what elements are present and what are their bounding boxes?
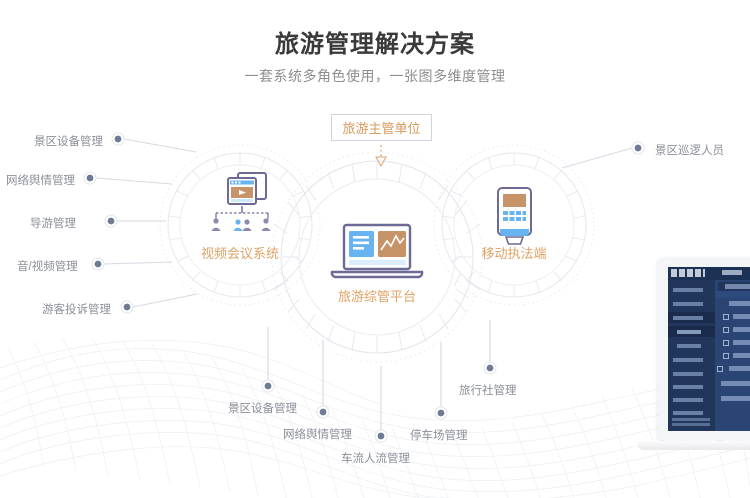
tourism-dashboard-preview xyxy=(650,258,750,468)
dashboard-checkbox[interactable] xyxy=(717,366,723,372)
dashboard-tree-leaf xyxy=(733,314,750,319)
node-caption-video-conference: 视频会议系统 xyxy=(180,243,300,262)
spoke-label-network-sentiment-bottom: 网络舆情管理 xyxy=(283,426,352,442)
dashboard-tree-leaf xyxy=(733,353,750,358)
dashboard-text-row xyxy=(725,284,750,289)
dashboard-checkbox[interactable] xyxy=(723,327,729,333)
spoke-label-scenic-equipment-bottom: 景区设备管理 xyxy=(228,400,297,416)
spoke-label-tourist-complaint-management: 游客投诉管理 xyxy=(42,301,111,317)
video-window-icon xyxy=(212,173,271,231)
node-caption-mobile-enforcement: 移动执法端 xyxy=(454,243,574,262)
dashboard-checkbox[interactable] xyxy=(723,314,729,320)
sidebar-item[interactable] xyxy=(673,288,703,292)
dashboard-tree-leaf xyxy=(733,340,750,345)
spoke-label-audio-video-management: 音/视频管理 xyxy=(17,258,78,274)
sidebar-item[interactable] xyxy=(673,372,703,376)
dashboard-tree-node xyxy=(721,396,750,401)
spoke-label-traffic-flow-management: 车流人流管理 xyxy=(341,450,410,466)
dashboard-filter-bar xyxy=(715,291,750,298)
sidebar-item[interactable] xyxy=(673,358,703,362)
dashboard-nav-item[interactable] xyxy=(722,270,742,275)
sidebar-item[interactable] xyxy=(677,344,701,348)
laptop-base xyxy=(638,441,750,450)
spoke-label-scenic-patrol-staff: 景区巡逻人员 xyxy=(655,142,724,158)
dashboard-screen xyxy=(668,267,750,431)
spoke-label-parking-management: 停车场管理 xyxy=(410,427,468,443)
dashboard-brand xyxy=(671,269,705,277)
dashboard-sidebar xyxy=(668,280,715,431)
dashboard-sidebar-footer xyxy=(672,418,710,427)
diagram-layer xyxy=(0,0,750,498)
sidebar-item-active[interactable] xyxy=(677,330,701,334)
authority-badge[interactable]: 旅游主管单位 xyxy=(331,114,432,141)
dashboard-tree-node xyxy=(721,381,750,386)
laptop-lid xyxy=(658,258,750,440)
spoke-label-network-sentiment-left: 网络舆情管理 xyxy=(6,172,75,188)
sidebar-item[interactable] xyxy=(673,302,703,306)
dashboard-tree-node xyxy=(729,301,750,306)
right-connectors xyxy=(562,148,632,168)
sidebar-item[interactable] xyxy=(673,398,703,402)
sidebar-item[interactable] xyxy=(673,316,703,320)
solution-diagram-page: 旅游管理解决方案 一套系统多角色使用，一张图多维度管理 xyxy=(0,0,750,498)
spoke-label-guide-management: 导游管理 xyxy=(30,215,76,231)
dashboard-tree-leaf xyxy=(733,327,750,332)
sidebar-item[interactable] xyxy=(673,385,703,389)
dashboard-checkbox[interactable] xyxy=(723,340,729,346)
handheld-terminal-icon xyxy=(498,188,531,244)
spoke-label-scenic-equipment-left: 景区设备管理 xyxy=(34,133,103,149)
authority-badge-label: 旅游主管单位 xyxy=(342,118,420,137)
spoke-label-travel-agency-management: 旅行社管理 xyxy=(459,382,517,398)
node-caption-tourism-platform: 旅游综管平台 xyxy=(317,286,437,305)
dashboard-tree-leaf xyxy=(729,366,750,371)
dashboard-topbar xyxy=(668,267,750,280)
bottom-connectors xyxy=(268,320,490,430)
sidebar-item[interactable] xyxy=(673,411,703,415)
node-ring-video-conference xyxy=(160,145,320,305)
dashboard-checkbox[interactable] xyxy=(723,353,729,359)
laptop-chart-icon xyxy=(332,225,422,277)
